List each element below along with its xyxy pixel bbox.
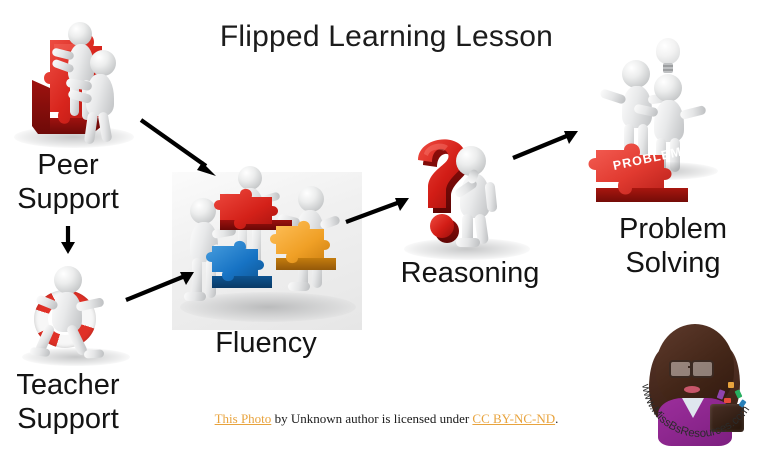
watermark-url: www.MissBsResources.com: [639, 382, 752, 440]
stage-label-problem-solving: Problem Solving: [578, 212, 768, 280]
svg-text:www.MissBsResources.com: www.MissBsResources.com: [639, 382, 752, 440]
arrow-fluency-to-reasoning: [346, 198, 409, 222]
watermark-text: www.MissBsResources.com: [636, 316, 764, 444]
arrow-reasoning-to-problem: [513, 131, 578, 158]
arrow-peer-to-teacher: [61, 226, 75, 254]
attribution-period: .: [555, 411, 558, 426]
stage-label-reasoning: Reasoning: [382, 256, 558, 290]
arrow-teacher-to-fluency: [126, 272, 194, 300]
attribution-middle-text: by Unknown author is licensed under: [271, 411, 472, 426]
stage-label-peer-support: Peer Support: [0, 148, 136, 216]
watermark-logo[interactable]: www.MissBsResources.com: [636, 316, 764, 444]
this-photo-link[interactable]: This Photo: [215, 411, 272, 426]
slide-canvas: Flipped Learning Lesson: [0, 0, 773, 476]
arrow-peer-to-fluency: [141, 120, 216, 176]
stage-label-fluency: Fluency: [178, 326, 354, 360]
cc-license-link[interactable]: CC BY-NC-ND: [472, 411, 555, 426]
